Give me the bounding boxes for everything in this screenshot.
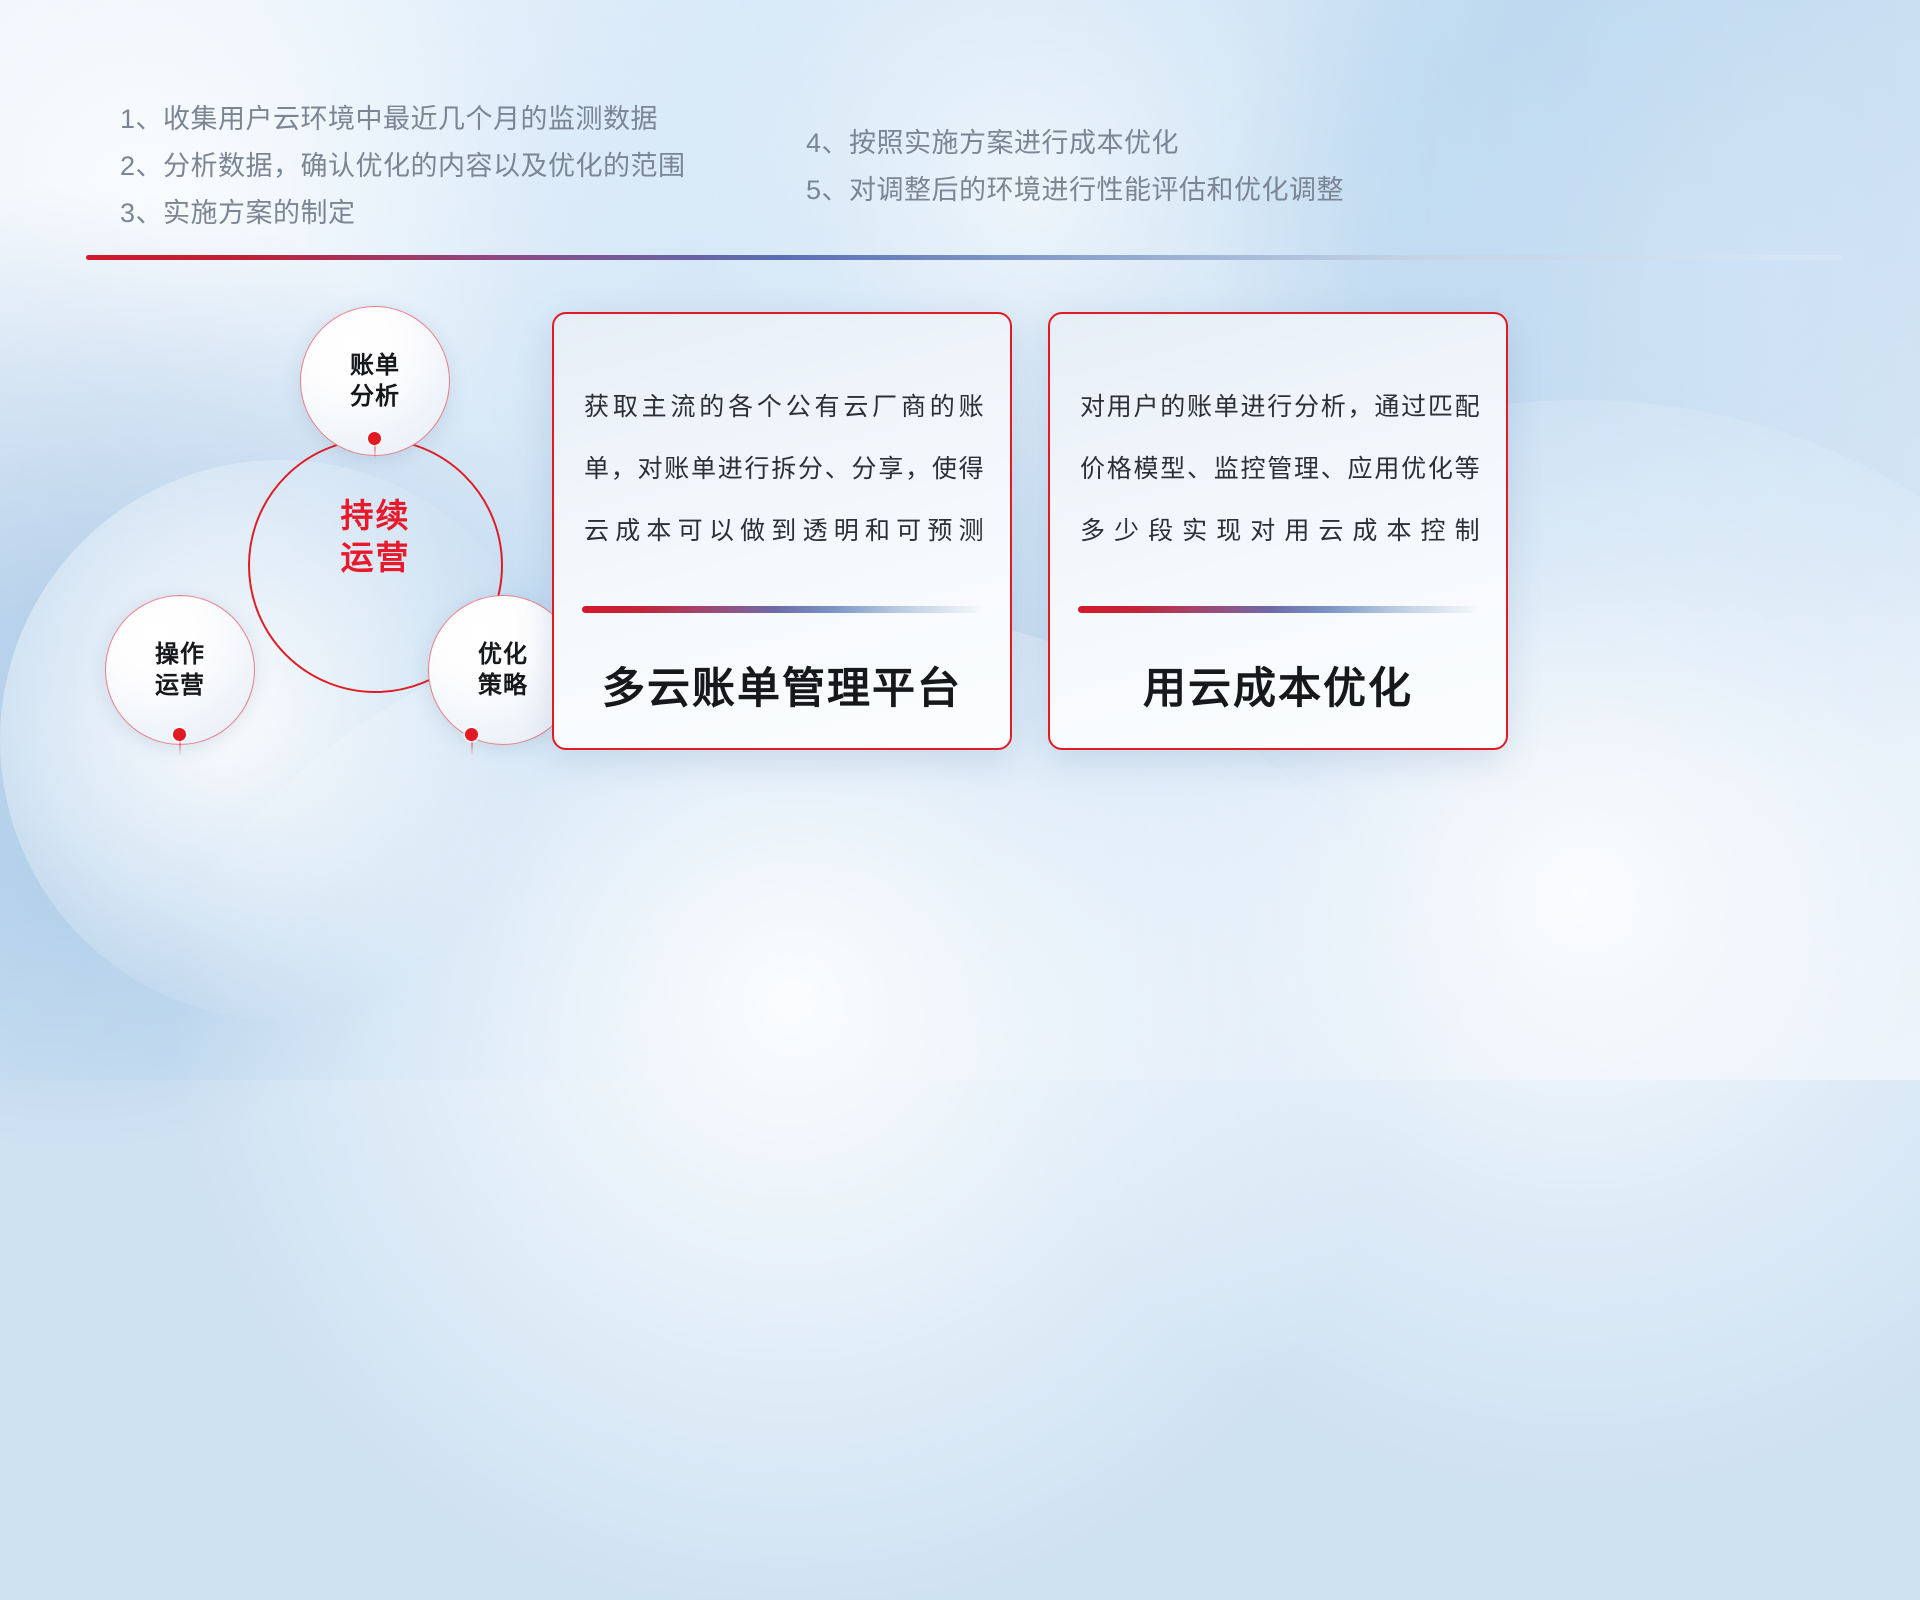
diagram-node-label: 操作 运营 (155, 639, 205, 701)
info-card-cloud-cost-optimization[interactable]: 对用户的账单进行分析，通过匹配价格模型、监控管理、应用优化等多少段实现对用云成本… (1048, 312, 1508, 750)
info-card-title: 多云账单管理平台 (554, 654, 1010, 716)
diagram-node-label: 优化 策略 (478, 639, 528, 701)
diagram-center-label: 持续 运营 (248, 495, 503, 579)
info-card-divider (1078, 606, 1480, 613)
diagram-node-label-line1: 优化 (478, 639, 528, 670)
diagram-center-label-line2: 运营 (248, 537, 503, 579)
steps-list-left: 1、收集用户云环境中最近几个月的监测数据 2、分析数据，确认优化的内容以及优化的… (120, 96, 820, 237)
info-card-title: 用云成本优化 (1050, 654, 1506, 716)
diagram-connector-top (374, 444, 376, 460)
step-item-4: 4、按照实施方案进行成本优化 (806, 120, 1506, 167)
diagram-marker-dot-right (465, 728, 478, 741)
diagram-marker-dot-left (173, 728, 186, 741)
step-item-3: 3、实施方案的制定 (120, 190, 820, 237)
diagram-marker-dot-top (368, 432, 381, 445)
diagram-node-label-line2: 策略 (478, 670, 528, 701)
diagram-node-operation[interactable]: 操作 运营 (105, 595, 255, 745)
diagram-node-label-line1: 账单 (350, 350, 400, 381)
diagram-connector-left (179, 740, 181, 756)
info-card-multicloud-billing[interactable]: 获取主流的各个公有云厂商的账单，对账单进行拆分、分享，使得云成本可以做到透明和可… (552, 312, 1012, 750)
step-item-2: 2、分析数据，确认优化的内容以及优化的范围 (120, 143, 820, 190)
step-item-1: 1、收集用户云环境中最近几个月的监测数据 (120, 96, 820, 143)
diagram-center-label-line1: 持续 (248, 495, 503, 537)
step-item-5: 5、对调整后的环境进行性能评估和优化调整 (806, 167, 1506, 214)
section-divider-rule (86, 255, 1842, 260)
diagram-connector-right (471, 740, 473, 756)
slide-stage: 1、收集用户云环境中最近几个月的监测数据 2、分析数据，确认优化的内容以及优化的… (0, 0, 1920, 1080)
info-card-divider (582, 606, 984, 613)
diagram-node-label-line2: 运营 (155, 670, 205, 701)
info-card-body: 对用户的账单进行分析，通过匹配价格模型、监控管理、应用优化等多少段实现对用云成本… (1080, 376, 1480, 562)
steps-list-right: 4、按照实施方案进行成本优化 5、对调整后的环境进行性能评估和优化调整 (806, 120, 1506, 214)
diagram-node-label-line1: 操作 (155, 639, 205, 670)
continuous-operation-diagram: 账单 分析 操作 运营 优化 策略 持续 运营 (80, 290, 550, 770)
diagram-node-label: 账单 分析 (350, 350, 400, 412)
diagram-node-label-line2: 分析 (350, 381, 400, 412)
info-card-body: 获取主流的各个公有云厂商的账单，对账单进行拆分、分享，使得云成本可以做到透明和可… (584, 376, 984, 562)
